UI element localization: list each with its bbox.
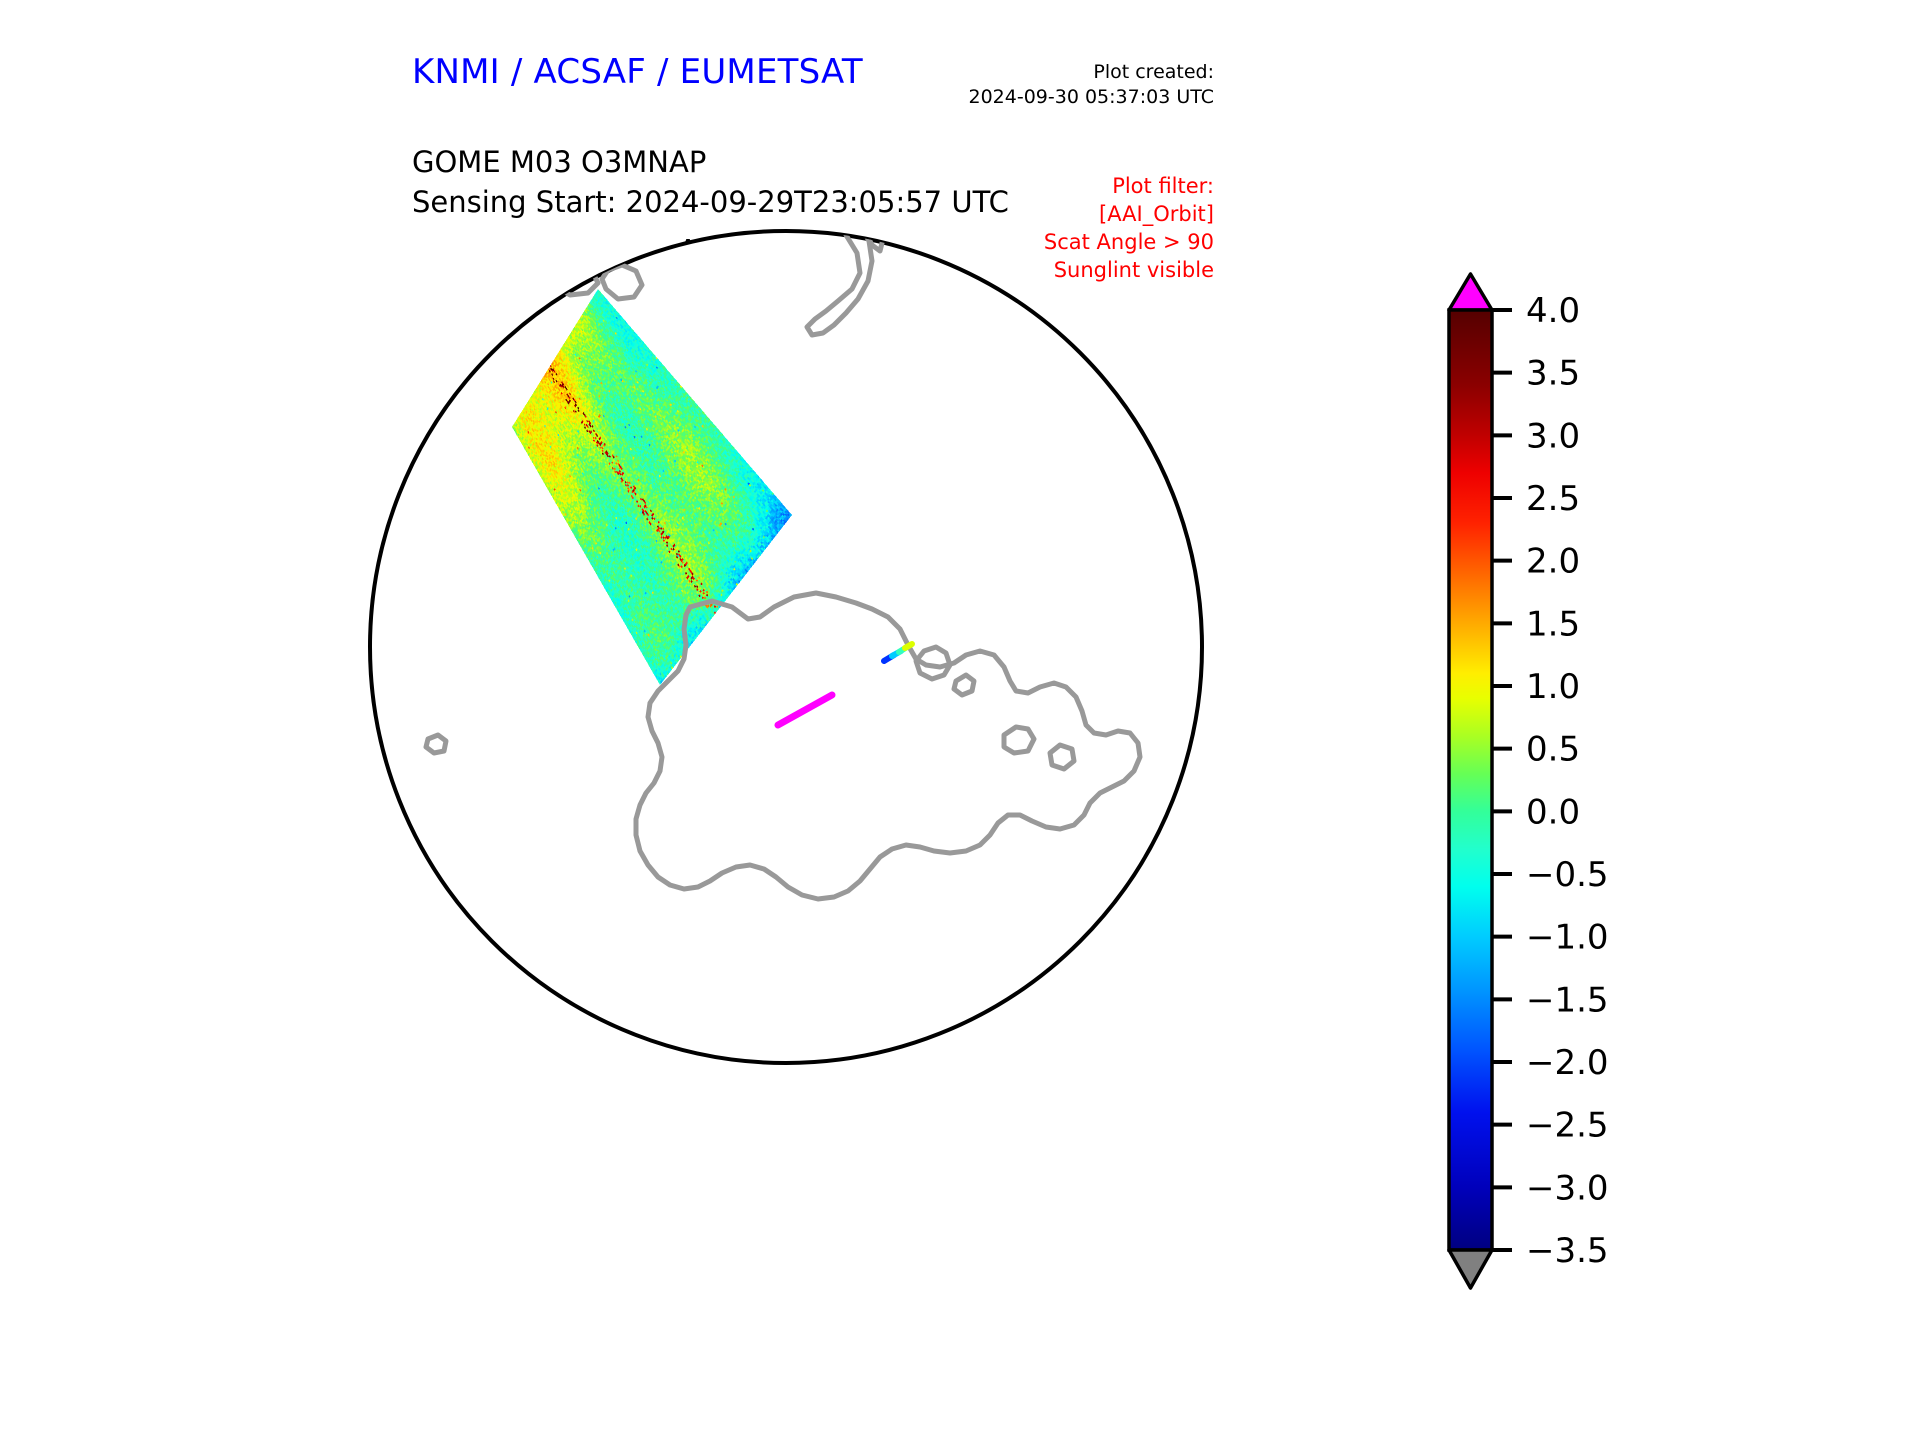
colorbar-tick-label: −2.5 xyxy=(1526,1106,1609,1146)
colorbar-tick-label: −0.5 xyxy=(1526,855,1609,895)
colorbar-tick-label: −3.0 xyxy=(1526,1168,1609,1208)
colorbar-tick-label: −2.0 xyxy=(1526,1043,1609,1083)
colorbar-tick-label: 1.0 xyxy=(1526,667,1580,707)
colorbar-tick-label: −1.0 xyxy=(1526,918,1609,958)
plot-created-label: Plot created: xyxy=(874,60,1214,85)
plot-created-time: 2024-09-30 05:37:03 UTC xyxy=(874,85,1214,110)
agency-header: KNMI / ACSAF / EUMETSAT xyxy=(412,52,863,92)
map-panel xyxy=(360,215,1230,1095)
colorbar-over-arrow xyxy=(1449,274,1492,310)
colorbar-panel: 4.03.53.02.52.01.51.00.50.0−0.5−1.0−1.5−… xyxy=(1440,270,1680,1320)
colorbar-tick-label: 3.0 xyxy=(1526,416,1580,456)
colorbar-ticks: 4.03.53.02.52.01.51.00.50.0−0.5−1.0−1.5−… xyxy=(1492,291,1609,1271)
colorbar: 4.03.53.02.52.01.51.00.50.0−0.5−1.0−1.5−… xyxy=(1440,270,1680,1320)
colorbar-tick-label: 0.0 xyxy=(1526,792,1580,832)
globe-outline xyxy=(370,231,1202,1063)
plot-created-block: Plot created: 2024-09-30 05:37:03 UTC xyxy=(874,60,1214,110)
colorbar-under-arrow xyxy=(1449,1250,1492,1288)
plot-page: KNMI / ACSAF / EUMETSAT Plot created: 20… xyxy=(0,0,1920,1440)
colorbar-tick-label: 4.0 xyxy=(1526,291,1580,331)
polar-map xyxy=(360,215,1230,1095)
colorbar-tick-label: −1.5 xyxy=(1526,980,1609,1020)
colorbar-tick-label: 0.5 xyxy=(1526,730,1580,770)
colorbar-gradient xyxy=(1449,310,1492,1250)
colorbar-tick-label: −3.5 xyxy=(1526,1231,1609,1271)
colorbar-tick-label: 1.5 xyxy=(1526,604,1580,644)
filter-line-1: Plot filter: xyxy=(874,172,1214,200)
colorbar-tick-label: 2.5 xyxy=(1526,479,1580,519)
colorbar-tick-label: 3.5 xyxy=(1526,354,1580,394)
colorbar-tick-label: 2.0 xyxy=(1526,542,1580,582)
